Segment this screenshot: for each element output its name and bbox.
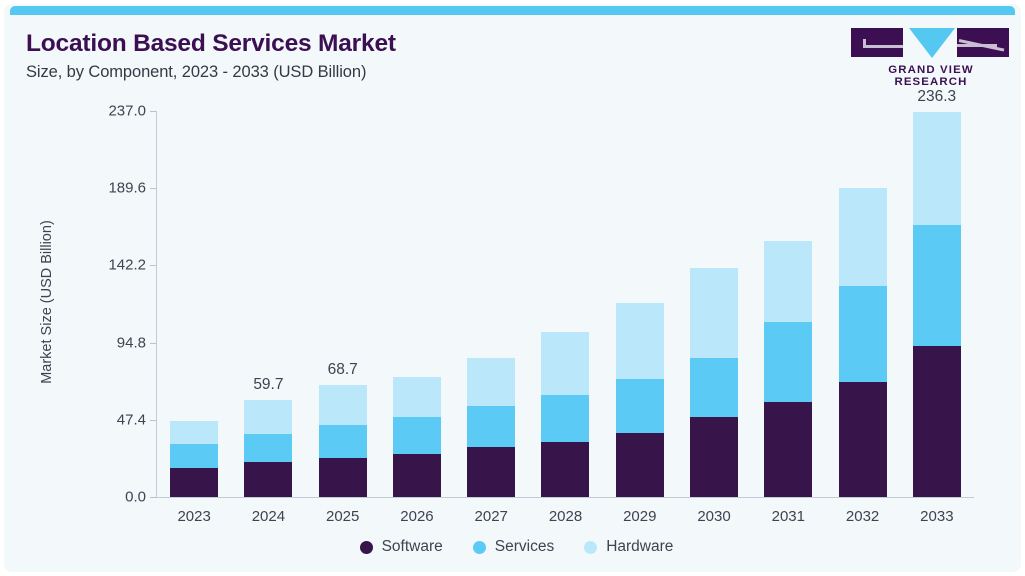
bar-group[interactable]: 236.3 <box>900 111 974 497</box>
bar-segment-services[interactable] <box>244 434 292 462</box>
y-tick-label: 94.8 <box>66 334 146 351</box>
bar-stack[interactable] <box>616 303 664 497</box>
bar-segment-hardware[interactable] <box>319 385 367 425</box>
y-tick-label: 189.6 <box>66 180 146 197</box>
bar-group[interactable] <box>157 111 231 497</box>
bar-segment-hardware[interactable] <box>170 421 218 444</box>
bar-group[interactable]: 59.7 <box>231 111 305 497</box>
legend-label: Services <box>495 538 554 556</box>
bar-segment-services[interactable] <box>393 417 441 454</box>
bar-segment-services[interactable] <box>170 444 218 468</box>
bar-segment-services[interactable] <box>319 425 367 458</box>
legend-item-hardware[interactable]: Hardware <box>584 538 673 556</box>
bar-segment-hardware[interactable] <box>467 358 515 406</box>
bar-segment-hardware[interactable] <box>541 332 589 395</box>
bar-segment-services[interactable] <box>616 379 664 433</box>
bar-segment-services[interactable] <box>467 406 515 448</box>
bar-segment-software[interactable] <box>467 447 515 497</box>
bar-segment-software[interactable] <box>764 402 812 497</box>
bar-series-container: 59.768.7236.3 <box>157 111 974 497</box>
bar-group[interactable]: 68.7 <box>306 111 380 497</box>
bar-stack[interactable] <box>319 385 367 497</box>
y-tick-label: 142.2 <box>66 257 146 274</box>
bar-stack[interactable] <box>764 241 812 497</box>
bar-segment-software[interactable] <box>839 382 887 497</box>
bar-group[interactable] <box>603 111 677 497</box>
bar-stack[interactable] <box>467 358 515 497</box>
bar-segment-hardware[interactable] <box>839 188 887 286</box>
chart-card: Location Based Services Market Size, by … <box>0 0 1025 576</box>
bar-segment-hardware[interactable] <box>690 268 738 357</box>
chart-legend: SoftwareServicesHardware <box>4 538 1025 556</box>
bar-segment-software[interactable] <box>616 433 664 497</box>
bar-group[interactable] <box>677 111 751 497</box>
y-tick-label: 237.0 <box>66 103 146 120</box>
legend-item-services[interactable]: Services <box>473 538 554 556</box>
bar-group[interactable] <box>454 111 528 497</box>
bar-segment-hardware[interactable] <box>764 241 812 321</box>
bar-stack[interactable] <box>393 377 441 498</box>
bar-segment-software[interactable] <box>393 454 441 497</box>
legend-label: Hardware <box>606 538 673 556</box>
bar-segment-software[interactable] <box>319 458 367 497</box>
y-axis-label: Market Size (USD Billion) <box>39 172 55 432</box>
bar-segment-hardware[interactable] <box>913 112 961 225</box>
bar-segment-software[interactable] <box>541 442 589 497</box>
legend-label: Software <box>382 538 443 556</box>
bar-stack[interactable] <box>244 400 292 497</box>
legend-swatch-icon <box>584 541 597 554</box>
y-tick-label: 0.0 <box>66 489 146 506</box>
bar-stack[interactable] <box>170 421 218 497</box>
bar-group[interactable] <box>751 111 825 497</box>
bar-segment-services[interactable] <box>839 286 887 382</box>
bar-total-label: 236.3 <box>900 88 974 106</box>
bar-total-label: 68.7 <box>306 361 380 379</box>
bar-segment-software[interactable] <box>244 462 292 497</box>
bar-group[interactable] <box>380 111 454 497</box>
bar-stack[interactable] <box>913 112 961 497</box>
bar-segment-software[interactable] <box>170 468 218 497</box>
bar-stack[interactable] <box>541 332 589 497</box>
bar-group[interactable] <box>825 111 899 497</box>
bar-segment-hardware[interactable] <box>393 377 441 417</box>
bar-total-label: 59.7 <box>231 376 305 394</box>
bar-group[interactable] <box>528 111 602 497</box>
bar-segment-software[interactable] <box>690 417 738 497</box>
bar-segment-services[interactable] <box>913 225 961 346</box>
bar-segment-services[interactable] <box>764 322 812 402</box>
bar-segment-hardware[interactable] <box>244 400 292 434</box>
bar-segment-software[interactable] <box>913 346 961 497</box>
x-tick-label: 2033 <box>892 508 982 525</box>
bar-segment-services[interactable] <box>541 395 589 441</box>
legend-swatch-icon <box>473 541 486 554</box>
legend-item-software[interactable]: Software <box>360 538 443 556</box>
chart-plot-area: Market Size (USD Billion) 0.047.494.8142… <box>4 4 1025 576</box>
x-axis-line <box>156 497 974 498</box>
bar-segment-services[interactable] <box>690 358 738 418</box>
y-tick-label: 47.4 <box>66 411 146 428</box>
bar-stack[interactable] <box>690 268 738 497</box>
legend-swatch-icon <box>360 541 373 554</box>
bar-segment-hardware[interactable] <box>616 303 664 379</box>
bar-stack[interactable] <box>839 188 887 497</box>
